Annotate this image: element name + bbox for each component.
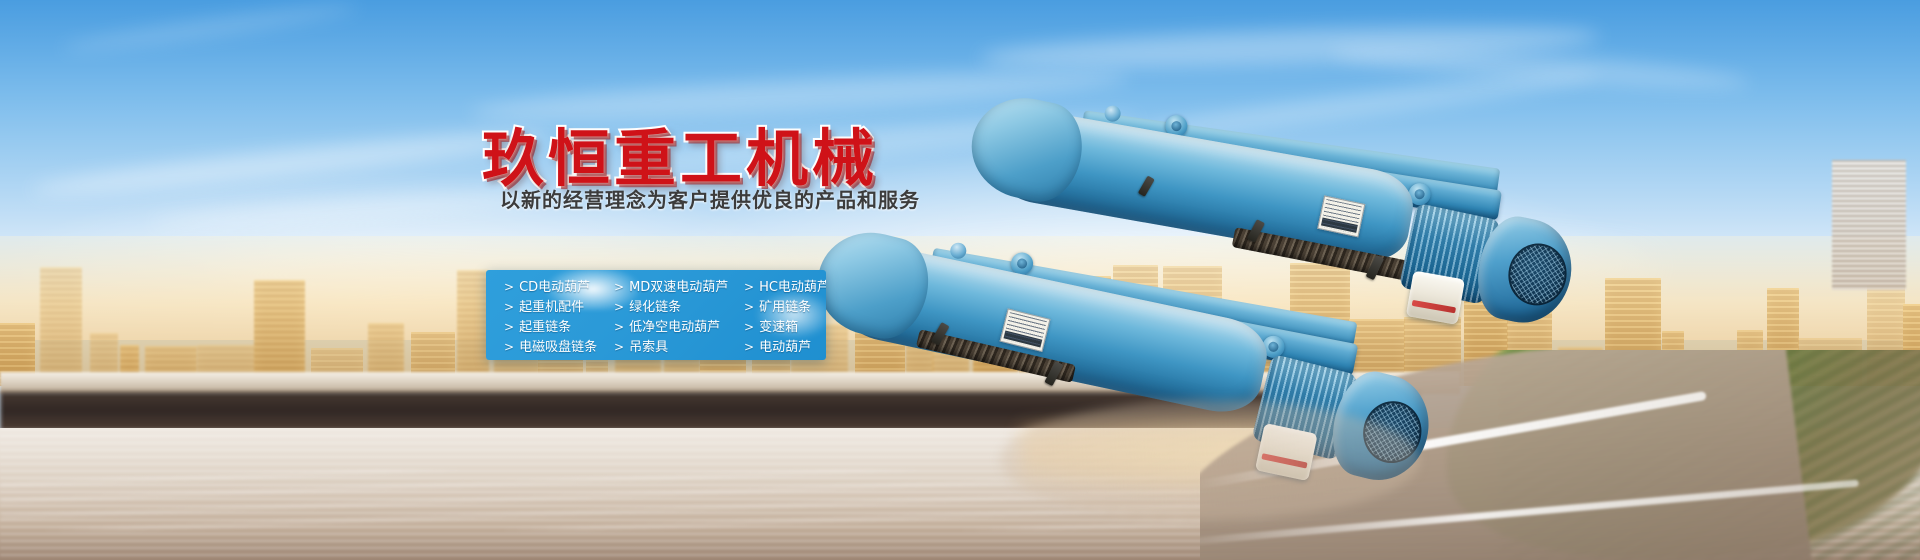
product-link-label: 矿用链条 bbox=[759, 301, 811, 314]
chevron-right-icon: > bbox=[504, 280, 514, 294]
promotional-banner: 玖恒重工机械 以新的经营理念为客户提供优良的产品和服务 >CD电动葫芦>MD双速… bbox=[0, 0, 1920, 560]
chevron-right-icon: > bbox=[744, 320, 754, 334]
curved-highway-section bbox=[1200, 350, 1920, 560]
product-link-label: 电动葫芦 bbox=[759, 341, 811, 354]
product-link[interactable]: >MD双速电动葫芦 bbox=[614, 277, 744, 297]
distant-tower-building bbox=[1832, 160, 1906, 290]
product-link-label: 吊索具 bbox=[629, 341, 668, 354]
chevron-right-icon: > bbox=[744, 340, 754, 354]
chevron-right-icon: > bbox=[614, 280, 624, 294]
page-subtitle: 以新的经营理念为客户提供优良的产品和服务 bbox=[500, 184, 920, 213]
product-link[interactable]: >低净空电动葫芦 bbox=[614, 317, 744, 337]
product-link[interactable]: >矿用链条 bbox=[744, 297, 826, 317]
product-link[interactable]: >电磁吸盘链条 bbox=[504, 337, 614, 357]
product-link[interactable]: >变速箱 bbox=[744, 317, 826, 337]
chevron-right-icon: > bbox=[614, 320, 624, 334]
product-link-label: 变速箱 bbox=[759, 321, 798, 334]
product-link-label: 绿化链条 bbox=[629, 301, 681, 314]
product-link[interactable]: >起重链条 bbox=[504, 317, 614, 337]
chevron-right-icon: > bbox=[614, 300, 624, 314]
product-links-list: >CD电动葫芦>MD双速电动葫芦>HC电动葫芦>起重机配件>绿化链条>矿用链条>… bbox=[486, 270, 826, 357]
product-link-label: 起重链条 bbox=[519, 321, 571, 334]
product-link-label: 低净空电动葫芦 bbox=[629, 321, 720, 334]
chevron-right-icon: > bbox=[504, 300, 514, 314]
product-links-panel: >CD电动葫芦>MD双速电动葫芦>HC电动葫芦>起重机配件>绿化链条>矿用链条>… bbox=[486, 270, 826, 360]
chevron-right-icon: > bbox=[744, 300, 754, 314]
product-link-label: 起重机配件 bbox=[519, 301, 584, 314]
product-link-label: HC电动葫芦 bbox=[759, 281, 826, 294]
chevron-right-icon: > bbox=[614, 340, 624, 354]
cloud-wisp bbox=[30, 123, 550, 203]
product-link[interactable]: >电动葫芦 bbox=[744, 337, 826, 357]
product-link[interactable]: >CD电动葫芦 bbox=[504, 277, 614, 297]
chevron-right-icon: > bbox=[504, 320, 514, 334]
product-link-label: CD电动葫芦 bbox=[519, 281, 590, 294]
chevron-right-icon: > bbox=[744, 280, 754, 294]
cloud-wisp bbox=[60, 0, 359, 57]
product-link-label: MD双速电动葫芦 bbox=[629, 281, 728, 294]
product-link[interactable]: >吊索具 bbox=[614, 337, 744, 357]
product-link[interactable]: >起重机配件 bbox=[504, 297, 614, 317]
product-link[interactable]: >绿化链条 bbox=[614, 297, 744, 317]
chevron-right-icon: > bbox=[504, 340, 514, 354]
product-link-label: 电磁吸盘链条 bbox=[519, 341, 597, 354]
product-link[interactable]: >HC电动葫芦 bbox=[744, 277, 826, 297]
